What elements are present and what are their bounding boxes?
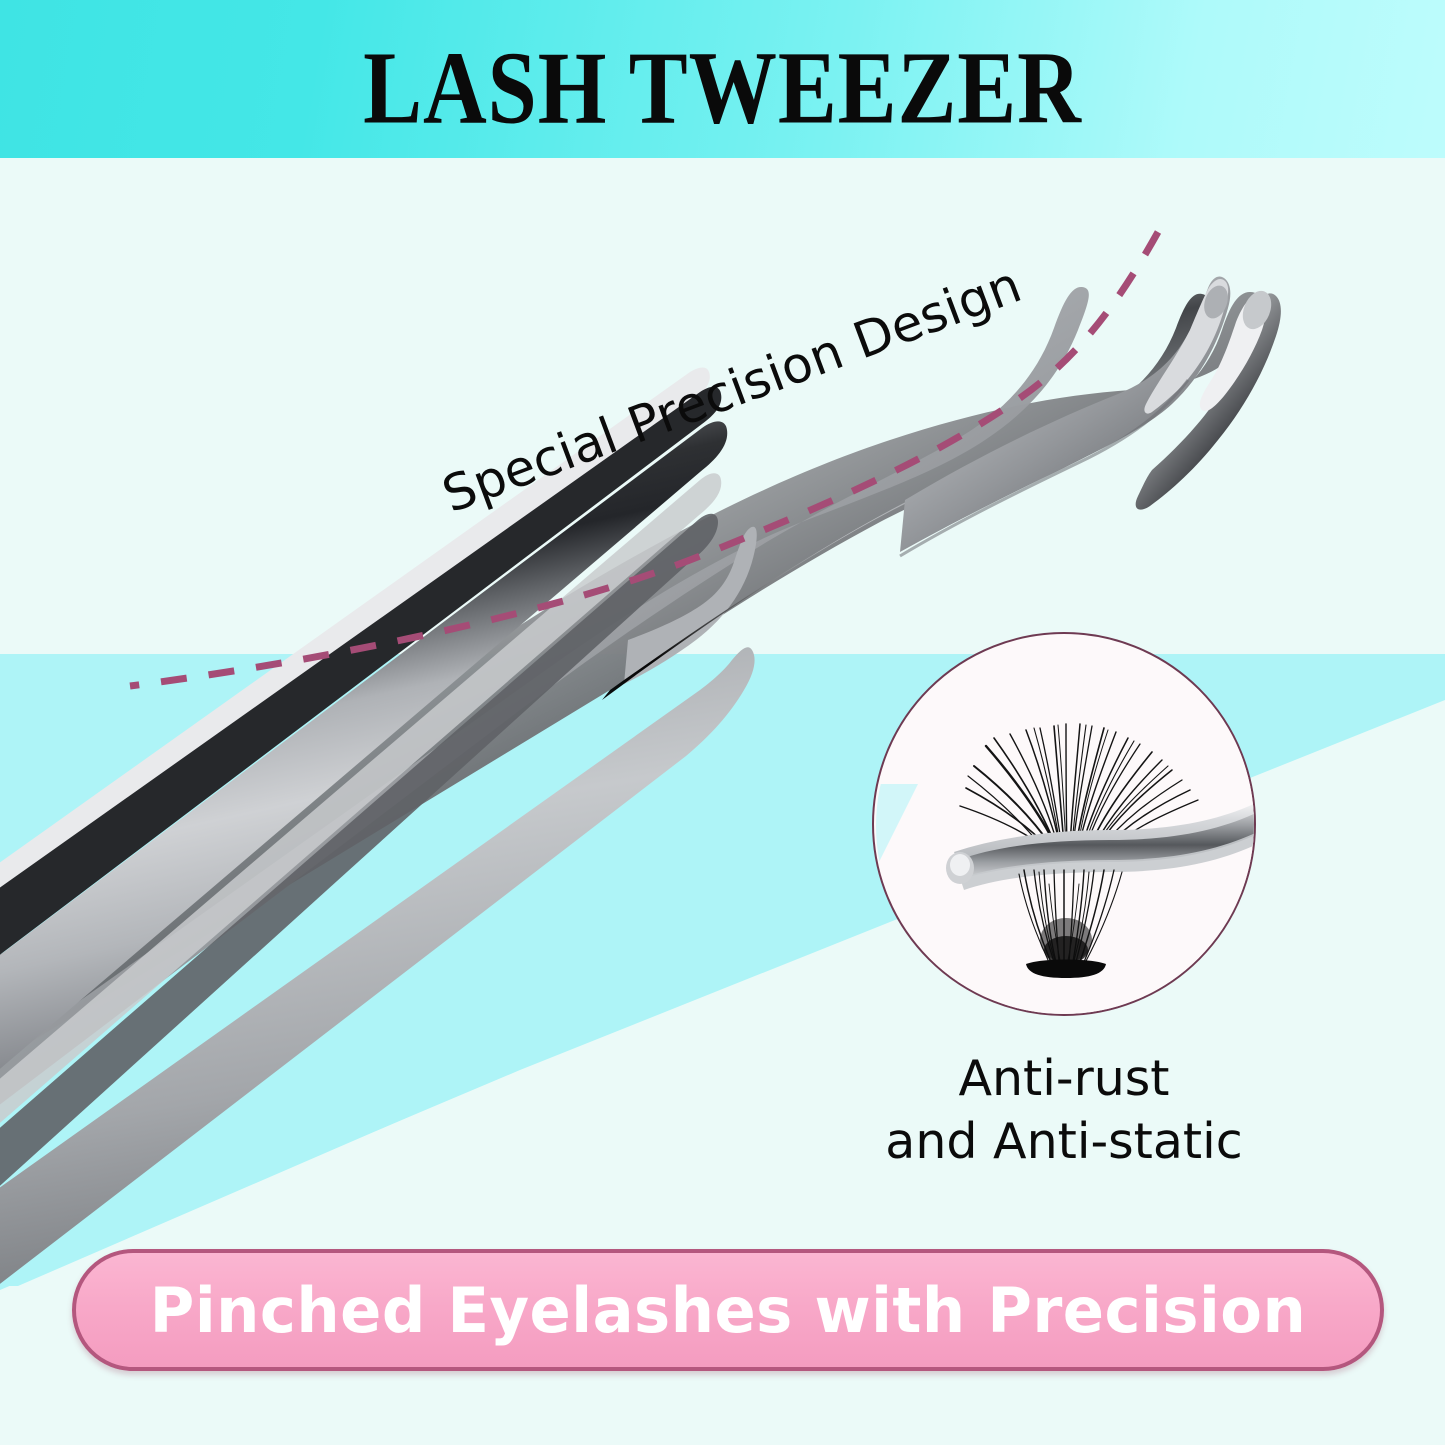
bottom-tagline-banner: Pinched Eyelashes with Precision (72, 1249, 1384, 1371)
feature-caption-line-2: and Anti-static (808, 1111, 1320, 1174)
feature-caption-line-1: Anti-rust (808, 1048, 1320, 1111)
bottom-tagline-text: Pinched Eyelashes with Precision (150, 1274, 1306, 1347)
feature-caption: Anti-rust and Anti-static (808, 1048, 1320, 1173)
product-infographic-poster: LASH TWEEZER (0, 0, 1445, 1445)
page-background (0, 0, 1445, 1445)
page-title: LASH TWEEZER (58, 36, 1387, 140)
lash-fan-icon (874, 634, 1256, 1016)
feature-inset-circle (872, 632, 1256, 1016)
